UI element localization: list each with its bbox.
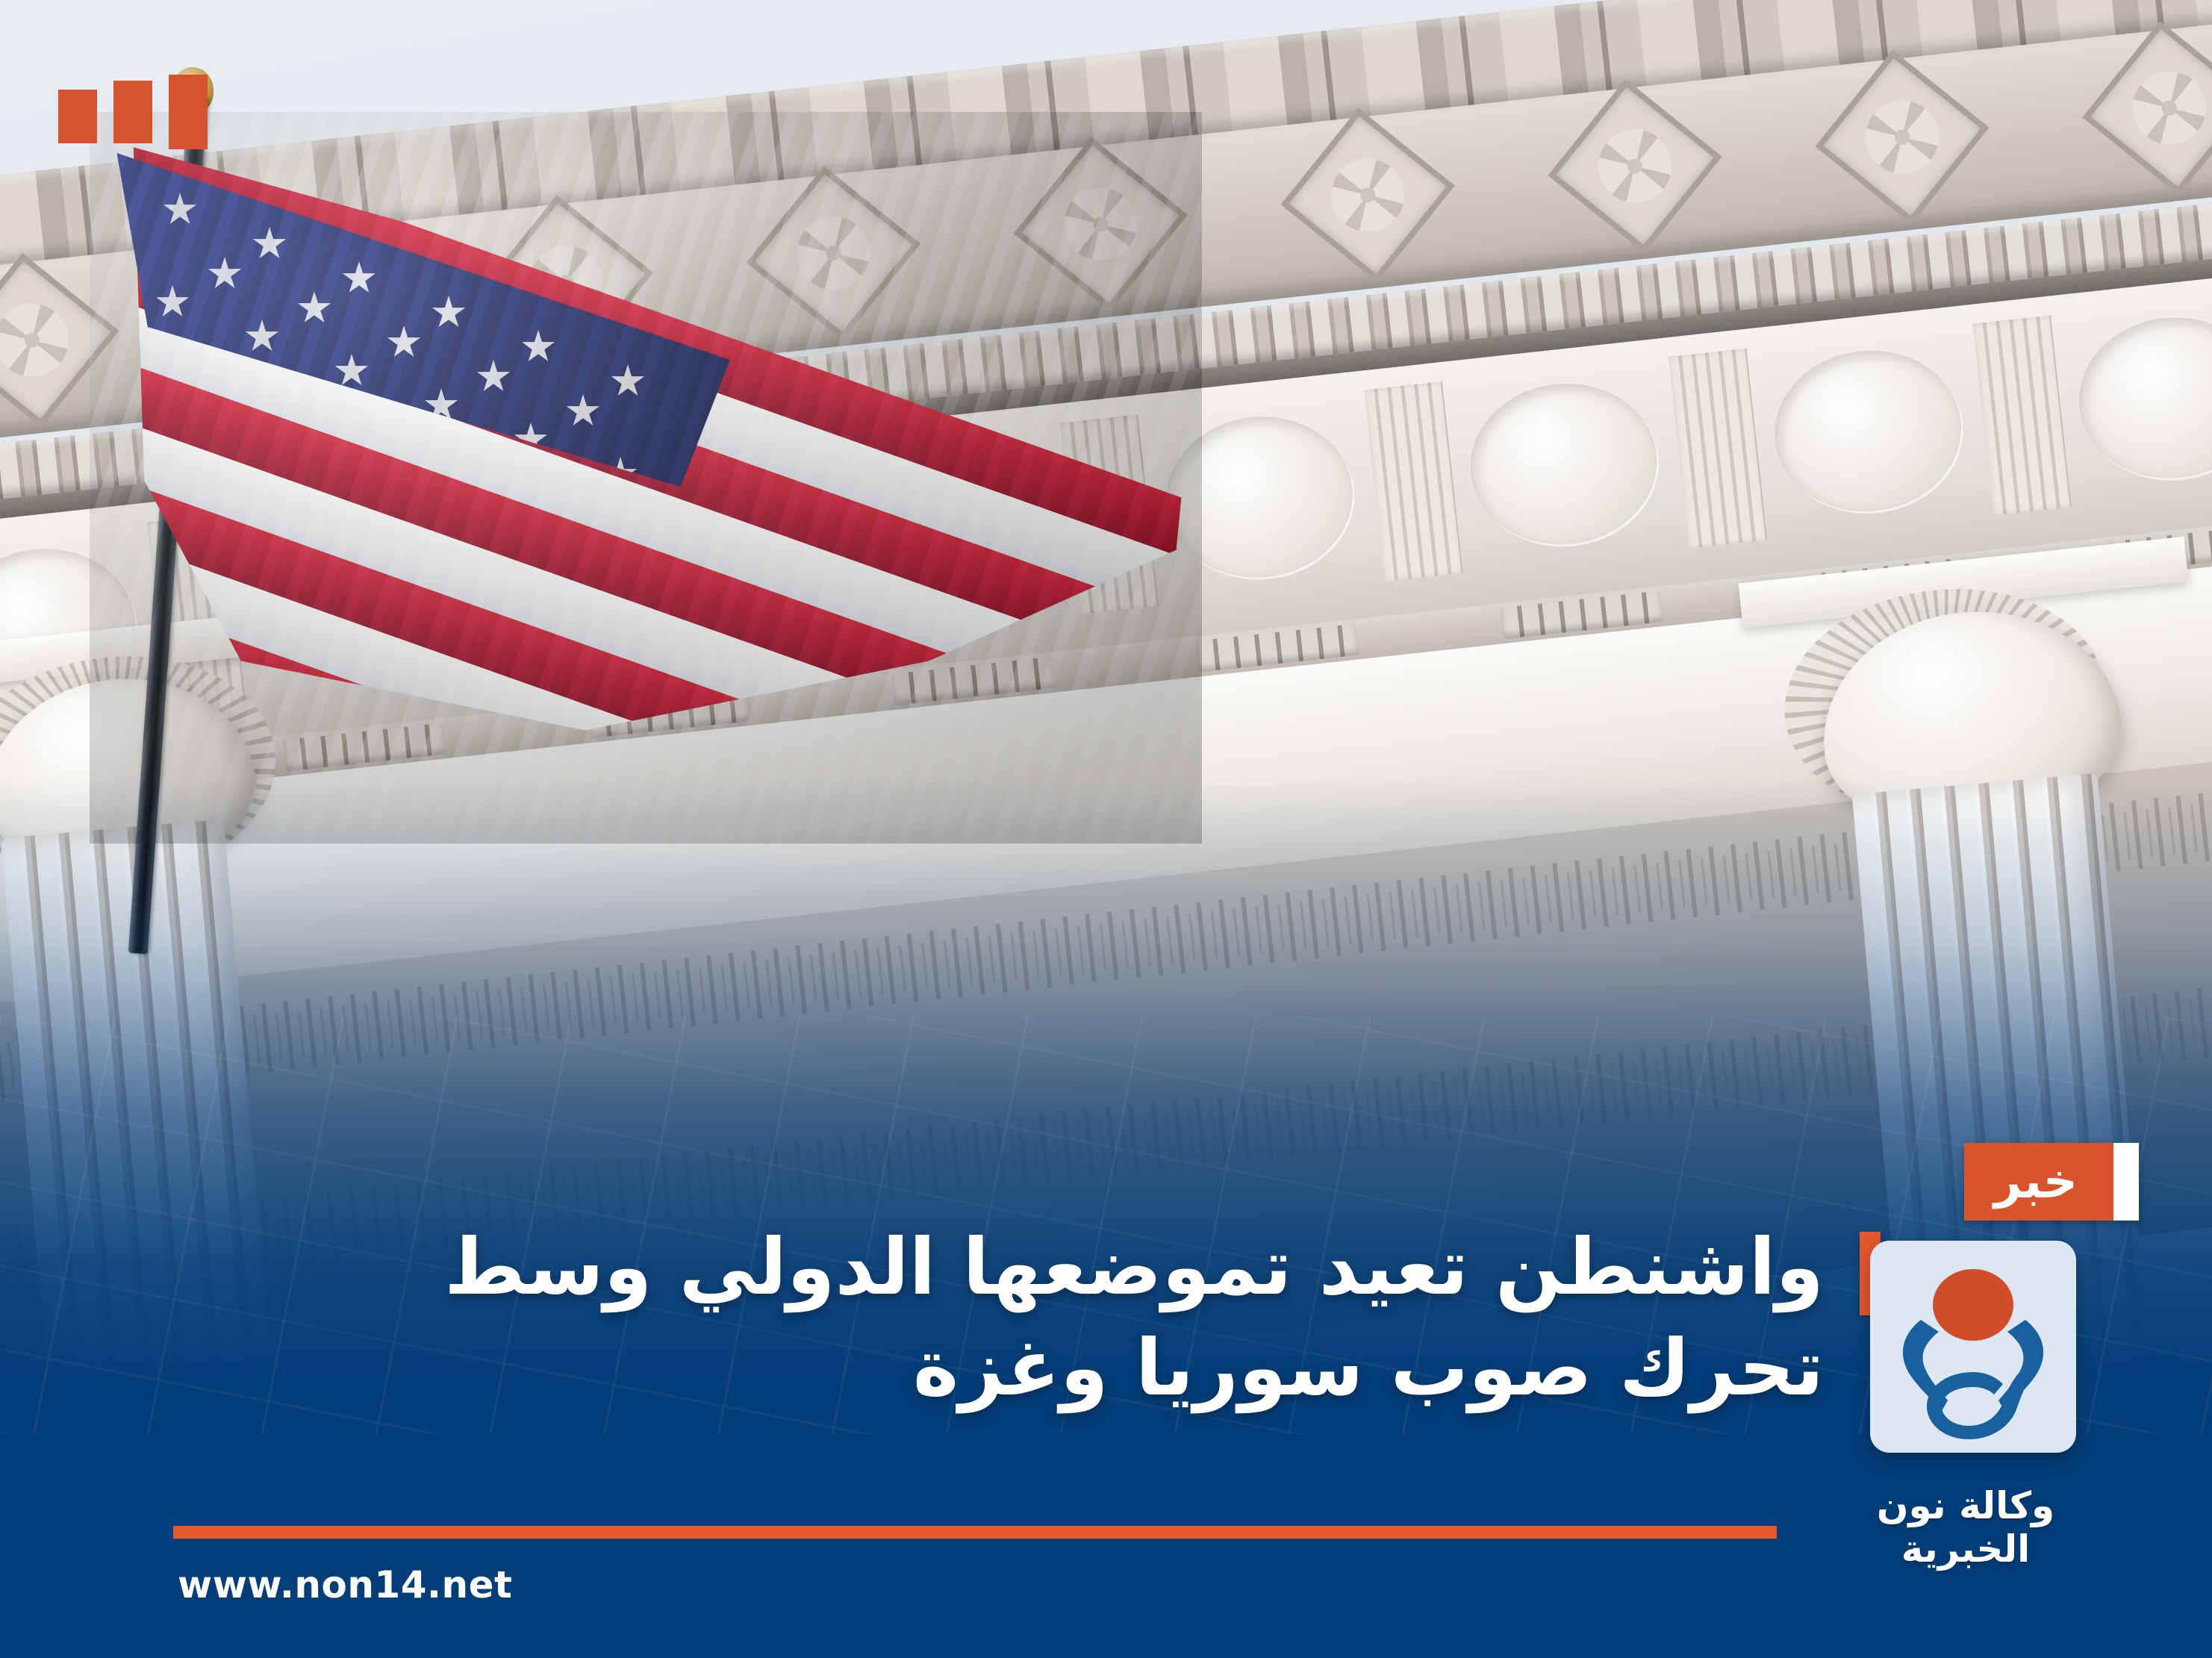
headline-line-2: تحرك صوب سوريا وغزة [112,1318,1824,1418]
rosette-ornament [2082,21,2212,195]
agency-name: وكالة نون الخبرية [1809,1484,2122,1571]
noon-agency-logo-icon [1870,1241,2076,1453]
page-title: واشنطن تعيد تموضعها الدولي وسط تحرك صوب … [112,1217,1824,1418]
flag-cloth [90,112,1202,844]
oval-recess [2071,308,2212,488]
oval-recess [1462,375,1666,555]
fluted-block [1669,349,1767,549]
badge-label: خبر [1964,1143,2113,1221]
fluted-block [1364,381,1462,582]
rosette-ornament [1548,79,1722,253]
rosette-ornament [1280,108,1454,282]
rosette-ornament [1815,50,1989,224]
oval-recess [1766,341,1969,521]
website-url: www.non14.net [178,1563,512,1606]
american-flag [90,112,1209,858]
headline-line-1: واشنطن تعيد تموضعها الدولي وسط [112,1217,1824,1318]
white-tick-bar-icon [2113,1143,2139,1221]
news-badge: خبر [1964,1143,2139,1221]
orange-divider [173,1526,1777,1539]
fluted-block [1973,316,2072,516]
three-bars-mark-icon [58,75,208,149]
news-card: واشنطن تعيد تموضعها الدولي وسط تحرك صوب … [0,0,2212,1658]
